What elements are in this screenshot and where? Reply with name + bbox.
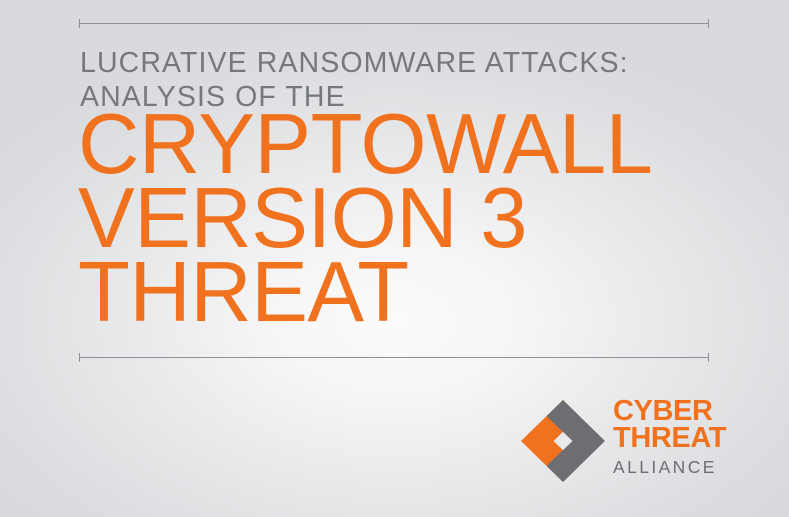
top-divider-rule	[79, 19, 709, 28]
logo-line-alliance: ALLIANCE	[613, 456, 713, 478]
rule-tick-right-icon	[708, 353, 709, 362]
logo-line-threat: THREAT	[613, 425, 713, 452]
cta-diamond-mark-icon	[519, 398, 607, 484]
rule-bar	[79, 357, 709, 358]
cyber-threat-alliance-logo: CYBER THREAT ALLIANCE	[519, 398, 711, 484]
rule-bar	[79, 23, 709, 24]
rule-tick-right-icon	[708, 19, 709, 28]
logo-line-cyber: CYBER	[613, 398, 713, 425]
bottom-divider-rule	[79, 353, 709, 362]
page-title: CRYPTOWALL VERSION 3 THREAT	[78, 108, 738, 330]
logo-wordmark: CYBER THREAT ALLIANCE	[613, 398, 713, 478]
report-cover-page: LUCRATIVE RANSOMWARE ATTACKS: ANALYSIS O…	[0, 0, 789, 517]
